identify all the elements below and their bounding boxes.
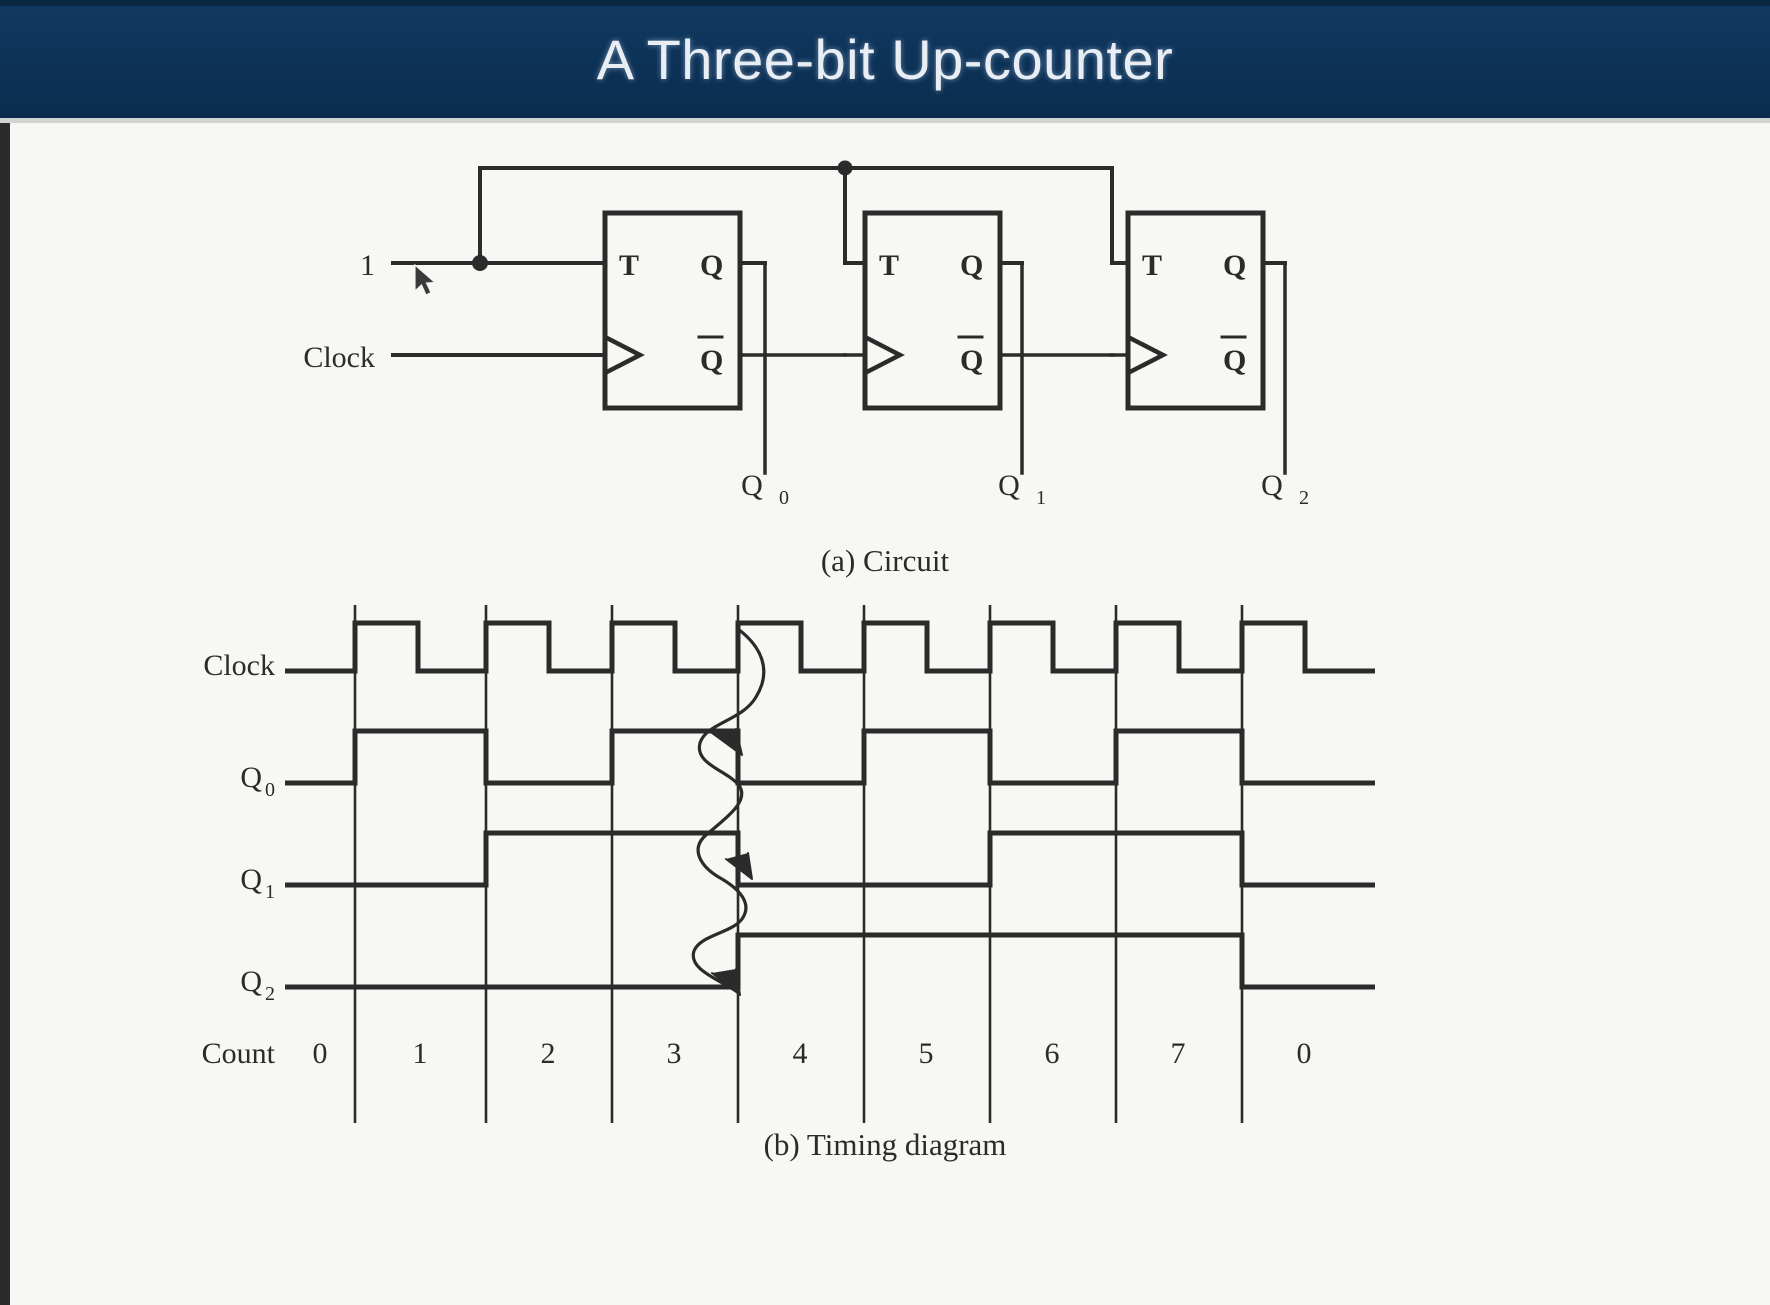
circuit-caption: (a) Circuit <box>821 543 950 578</box>
output-label-q2: Q <box>1261 469 1283 502</box>
flipflop-2 <box>1112 213 1285 473</box>
timing-label-q2-sub: 2 <box>265 983 275 1005</box>
output-sub-q2: 2 <box>1299 487 1309 509</box>
ff2-qbar-pin-label: Q <box>1223 344 1246 377</box>
count-row-label: Count <box>202 1037 276 1070</box>
ff0-qbar-pin-label: Q <box>700 344 723 377</box>
ff0-clock-triangle-icon <box>605 337 640 373</box>
page-title: A Three-bit Up-counter <box>597 27 1173 92</box>
ff0-body <box>605 213 740 408</box>
waveform-q1 <box>285 833 1375 885</box>
count-value-2: 2 <box>541 1037 556 1070</box>
timing-label-q0: Q <box>240 761 262 794</box>
timing-row-labels: Clock Q 0 Q 1 Q 2 <box>203 649 275 1005</box>
waveform-q0 <box>285 731 1375 783</box>
count-value-6: 6 <box>1045 1037 1060 1070</box>
output-label-q1: Q <box>998 469 1020 502</box>
ff2-q-pin-label: Q <box>1223 249 1246 282</box>
junction-dot-ff0-t <box>472 255 488 271</box>
waveform-q2 <box>285 935 1375 987</box>
count-value-3: 3 <box>667 1037 682 1070</box>
timing-caption: (b) Timing diagram <box>764 1127 1007 1162</box>
figure-area: T Q Q T Q Q <box>0 123 1770 1305</box>
timing-label-q2: Q <box>240 965 262 998</box>
ff2-body <box>1128 213 1263 408</box>
count-value-0: 0 <box>313 1037 328 1070</box>
ff1-clock-triangle-icon <box>865 337 900 373</box>
timing-label-q1-sub: 1 <box>265 881 275 903</box>
timing-label-clock: Clock <box>203 649 275 682</box>
ff0-q-pin-label: Q <box>700 249 723 282</box>
banner-top-edge <box>0 0 1770 6</box>
circuit-input-one-label: 1 <box>360 249 375 282</box>
handdrawn-edge-propagation-arrow <box>693 629 764 995</box>
output-label-q0: Q <box>741 469 763 502</box>
output-sub-q0: 0 <box>779 487 789 509</box>
count-value-7: 7 <box>1171 1037 1186 1070</box>
count-value-8: 0 <box>1297 1037 1312 1070</box>
timing-label-q1: Q <box>240 863 262 896</box>
count-values: 0 1 2 3 4 5 6 7 0 <box>313 1037 1312 1070</box>
output-sub-q1: 1 <box>1036 487 1046 509</box>
ff1-qbar-pin-label: Q <box>960 344 983 377</box>
count-value-1: 1 <box>413 1037 428 1070</box>
count-value-4: 4 <box>793 1037 808 1070</box>
circuit-output-labels: Q 0 Q 1 Q 2 <box>741 469 1309 509</box>
ff2-t-pin-label: T <box>1142 249 1162 282</box>
ff1-body <box>865 213 1000 408</box>
ff1-t-pin-label: T <box>879 249 899 282</box>
circuit-clock-label: Clock <box>303 341 375 374</box>
counter-figure-svg: T Q Q T Q Q <box>0 123 1770 1305</box>
title-banner: A Three-bit Up-counter <box>0 0 1770 118</box>
count-value-5: 5 <box>919 1037 934 1070</box>
waveform-clock <box>285 623 1375 671</box>
feedback-bus-wires <box>480 168 1112 263</box>
mouse-pointer-icon <box>415 265 435 295</box>
slide-root: A Three-bit Up-counter <box>0 0 1770 1305</box>
ff0-t-pin-label: T <box>619 249 639 282</box>
ff1-q-pin-label: Q <box>960 249 983 282</box>
junction-dot-top <box>838 161 853 176</box>
circuit-diagram: T Q Q T Q Q <box>303 161 1309 579</box>
ff2-clock-triangle-icon <box>1128 337 1163 373</box>
timing-diagram: Clock Q 0 Q 1 Q 2 Count 0 1 2 3 4 5 6 7 … <box>202 605 1375 1162</box>
timing-label-q0-sub: 0 <box>265 779 275 801</box>
